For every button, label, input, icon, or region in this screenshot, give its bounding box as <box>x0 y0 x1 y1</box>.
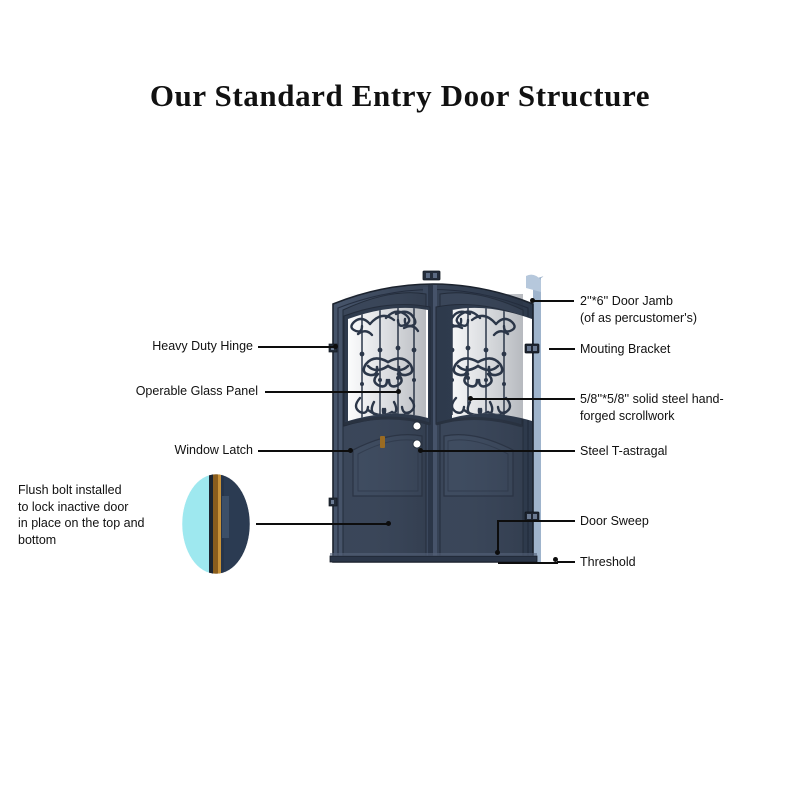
page-title: Our Standard Entry Door Structure <box>0 78 800 114</box>
window-latch-hardware[interactable] <box>380 436 385 448</box>
door-leaf-right <box>430 293 540 556</box>
label-threshold: Threshold <box>580 554 795 571</box>
hinge-left-lower <box>329 498 337 506</box>
entry-door-illustration <box>300 258 590 578</box>
leader-dot-heavy-duty-hinge <box>333 344 338 349</box>
top-center-bracket <box>423 271 440 280</box>
label-door-sweep: Door Sweep <box>580 513 795 530</box>
door-leaf-left <box>340 293 440 556</box>
diagram-page: Our Standard Entry Door Structure <box>0 0 800 800</box>
label-scrollwork: 5/8''*5/8'' solid steel hand- forged scr… <box>580 391 795 424</box>
label-heavy-duty-hinge: Heavy Duty Hinge <box>48 338 253 355</box>
leader-flush-bolt <box>256 523 390 525</box>
leader-dot-operable-glass-panel <box>396 389 401 394</box>
leader-window-latch <box>258 450 352 452</box>
leader-threshold-base <box>498 562 558 564</box>
door-knob-upper[interactable] <box>413 422 421 430</box>
label-mouting-bracket: Mouting Bracket <box>580 341 795 358</box>
leader-dot-steel-t-astragal <box>418 448 423 453</box>
leader-dot-flush-bolt <box>386 521 391 526</box>
flush-bolt-detail-inset <box>176 468 256 580</box>
threshold-bar <box>330 553 537 562</box>
leader-dot-scrollwork <box>468 396 473 401</box>
leader-mouting-bracket <box>549 348 575 350</box>
leader-heavy-duty-hinge <box>258 346 337 348</box>
label-steel-t-astragal: Steel T-astragal <box>580 443 795 460</box>
label-operable-glass-panel: Operable Glass Panel <box>28 383 258 400</box>
label-flush-bolt: Flush bolt installed to lock inactive do… <box>18 482 173 548</box>
leader-scrollwork <box>470 398 575 400</box>
leader-operable-glass-panel <box>265 391 400 393</box>
leader-door-sweep-top <box>497 520 575 522</box>
leader-steel-t-astragal <box>420 450 575 452</box>
door-knob-lower[interactable] <box>413 440 421 448</box>
leader-dot-door-jamb <box>530 298 535 303</box>
leader-dot-door-sweep <box>495 550 500 555</box>
label-door-jamb: 2''*6'' Door Jamb (of as percustomer's) <box>580 293 795 326</box>
label-window-latch: Window Latch <box>48 442 253 459</box>
leader-threshold <box>557 561 575 563</box>
mounting-bracket-upper <box>525 344 539 353</box>
leader-door-sweep-vertical <box>497 520 499 553</box>
leader-door-jamb <box>532 300 574 302</box>
leader-dot-window-latch <box>348 448 353 453</box>
